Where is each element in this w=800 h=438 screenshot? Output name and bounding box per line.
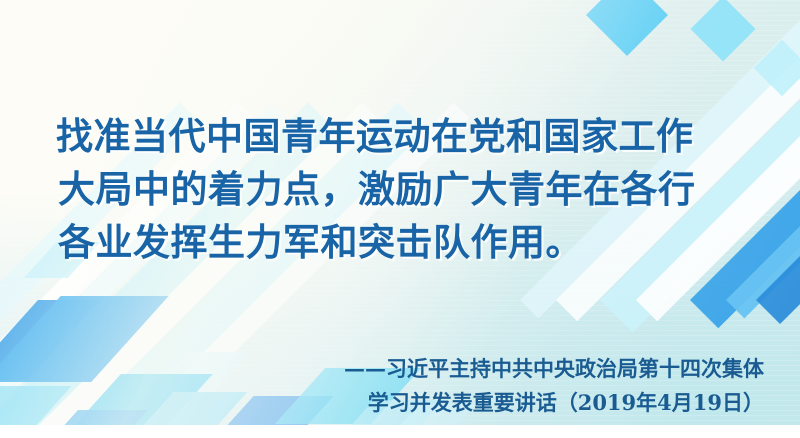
attribution-block: ——习近平主持中共中央政治局第十四次集体 学习并发表重要讲话（2019年4月19… [44, 352, 764, 420]
headline-line-2: 大局中的着力点，激励广大青年在各行 [56, 163, 756, 216]
poster-content: 找准当代中国青年运动在党和国家工作 大局中的着力点，激励广大青年在各行 各业发挥… [0, 0, 800, 438]
attribution-line-2: 学习并发表重要讲话（2019年4月19日） [44, 386, 764, 420]
poster-banner: 找准当代中国青年运动在党和国家工作 大局中的着力点，激励广大青年在各行 各业发挥… [0, 0, 800, 438]
attribution-line-1: ——习近平主持中共中央政治局第十四次集体 [44, 352, 764, 386]
headline-line-3: 各业发挥生力军和突击队作用。 [56, 216, 756, 269]
headline-line-1: 找准当代中国青年运动在党和国家工作 [56, 110, 756, 163]
bottom-white-strip [0, 425, 800, 438]
headline-quote: 找准当代中国青年运动在党和国家工作 大局中的着力点，激励广大青年在各行 各业发挥… [56, 110, 756, 269]
